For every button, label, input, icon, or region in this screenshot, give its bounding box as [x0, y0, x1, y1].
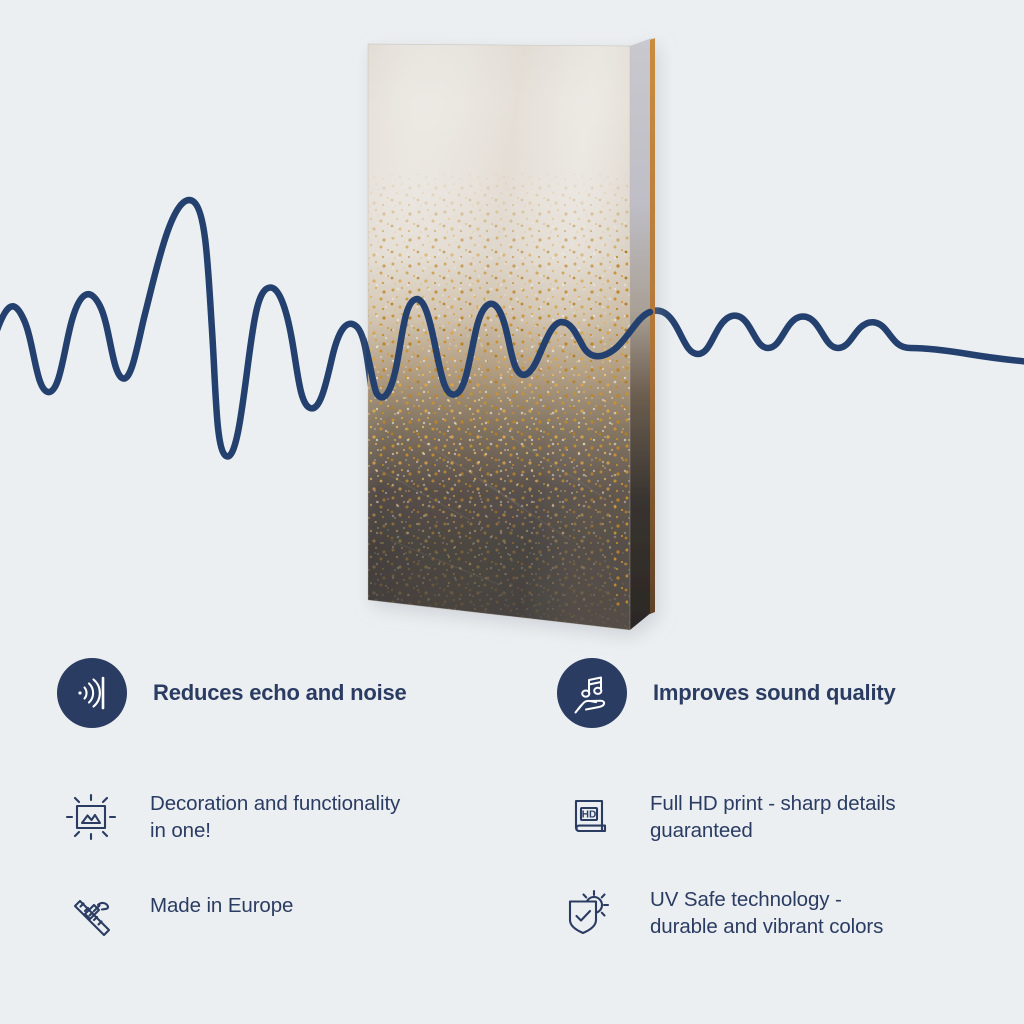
feature-decoration[interactable]: Decoration and functionality in one!	[62, 788, 512, 846]
feature-line-1: Decoration and functionality	[150, 790, 400, 817]
infographic-canvas: Reduces echo and noise	[0, 0, 1024, 1024]
badge-label: Improves sound quality	[653, 680, 896, 706]
hd-print-icon: HD	[565, 791, 617, 843]
hd-badge-text: HD	[582, 810, 596, 821]
feature-text: Decoration and functionality in one!	[150, 788, 400, 845]
canvas-white-fleck	[368, 44, 630, 630]
canvas-print-product	[0, 0, 1024, 680]
feature-uv-safe[interactable]: UV Safe technology - durable and vibrant…	[562, 884, 1022, 942]
feature-line-2: guaranteed	[650, 817, 895, 844]
shield-sun-check-icon	[564, 886, 618, 940]
feature-line-1: Full HD print - sharp details	[650, 790, 895, 817]
sound-waves-wall-icon	[71, 672, 113, 714]
canvas-wood-edge	[650, 38, 655, 614]
feature-icon-wrap	[562, 884, 620, 942]
badge-reduces-echo[interactable]: Reduces echo and noise	[57, 658, 407, 728]
canvas-body	[368, 38, 655, 630]
canvas-side-panel	[630, 38, 652, 630]
hammer-ruler-icon	[64, 892, 118, 946]
feature-line-1: Made in Europe	[150, 892, 293, 919]
badge-icon-circle	[57, 658, 127, 728]
feature-text: Made in Europe	[150, 890, 293, 919]
feature-line-1: UV Safe technology -	[650, 886, 883, 913]
feature-icon-wrap: HD	[562, 788, 620, 846]
canvas-gold-drip	[614, 250, 628, 610]
feature-line-2: durable and vibrant colors	[650, 913, 883, 940]
feature-text: Full HD print - sharp details guaranteed	[650, 788, 895, 845]
feature-made-in-europe[interactable]: Made in Europe	[62, 890, 512, 948]
features-section: Reduces echo and noise	[0, 636, 1024, 1024]
hand-music-note-icon	[570, 671, 614, 715]
badge-improves-sound[interactable]: Improves sound quality	[557, 658, 896, 728]
feature-hd-print[interactable]: HD Full HD print - sharp details guarant…	[562, 788, 1022, 846]
feature-icon-wrap	[62, 788, 120, 846]
feature-text: UV Safe technology - durable and vibrant…	[650, 884, 883, 941]
framed-picture-shine-icon	[64, 790, 118, 844]
feature-line-2: in one!	[150, 817, 400, 844]
feature-icon-wrap	[62, 890, 120, 948]
badge-icon-circle	[557, 658, 627, 728]
badge-label: Reduces echo and noise	[153, 680, 407, 706]
